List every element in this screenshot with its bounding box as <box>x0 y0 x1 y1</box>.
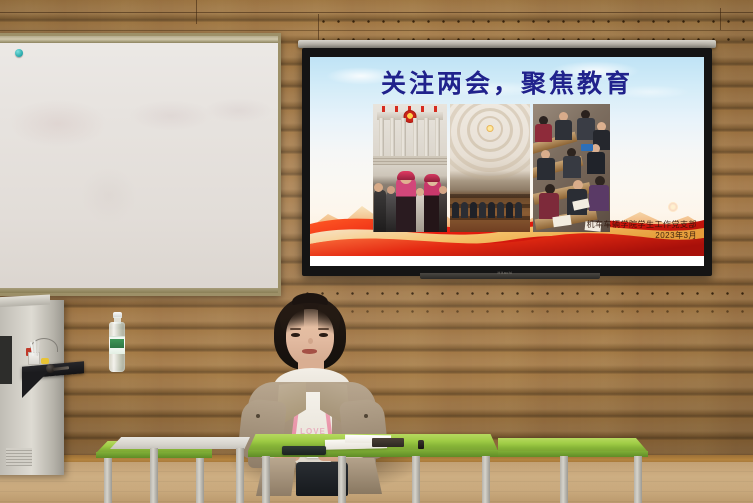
mouth <box>302 349 317 354</box>
screen-brand-label: Hitachi <box>470 269 540 276</box>
screen-top-housing <box>298 40 716 48</box>
photo-assembly <box>533 104 610 232</box>
lectern-panel <box>0 336 12 384</box>
whiteboard-pen-tray <box>0 288 278 293</box>
lectern-vent <box>6 448 32 466</box>
pen-cup[interactable] <box>28 352 40 365</box>
whiteboard-surface <box>0 36 278 293</box>
mobile-phone[interactable] <box>282 446 326 455</box>
projection-screen[interactable]: 关注两会，聚焦教育 <box>302 40 712 283</box>
slide-title: 关注两会，聚焦教育 <box>310 64 704 100</box>
mic-clip <box>41 358 49 364</box>
whiteboard[interactable] <box>0 33 281 296</box>
eye-left <box>291 333 300 337</box>
bottle-label-band <box>110 339 124 348</box>
slide-credit-line-1: 机车车辆学院学生工作党支部 <box>587 219 698 230</box>
presentation-slide: 关注两会，聚焦教育 <box>310 57 704 266</box>
slide-credit: 机车车辆学院学生工作党支部 2023年3月 <box>587 219 698 241</box>
pen-cap[interactable] <box>418 440 424 449</box>
photo-great-hall <box>373 104 447 232</box>
photo-dome-ceiling <box>450 104 530 232</box>
jacket-button <box>364 414 368 418</box>
eyebrow-left <box>290 328 301 330</box>
decorative-seal-icon <box>668 202 678 212</box>
eye-right <box>319 333 328 337</box>
nose <box>308 338 313 344</box>
whiteboard-magnet-icon[interactable] <box>15 49 23 57</box>
slide-credit-line-2: 2023年3月 <box>587 230 698 241</box>
slide-bottom-strip <box>310 256 704 266</box>
screen-bezel: 关注两会，聚焦教育 <box>302 48 712 276</box>
jacket-button <box>256 414 260 418</box>
room-scene: 关注两会，聚焦教育 <box>0 0 753 503</box>
water-bottle[interactable] <box>109 312 125 372</box>
eyebrow-right <box>318 328 329 330</box>
notebook[interactable] <box>372 438 404 447</box>
slide-photo-row <box>373 104 641 232</box>
